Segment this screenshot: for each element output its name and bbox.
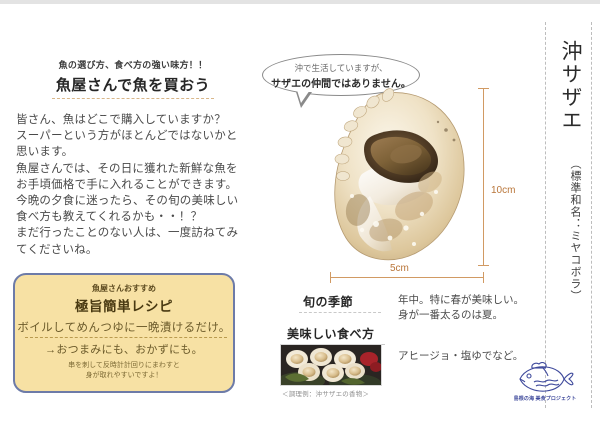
season-label-rule (299, 312, 381, 313)
species-scientific-note-vertical: （標準和名：ミヤコボラ） (553, 158, 583, 302)
logo-caption: 島根の海 美食プロジェクト (508, 395, 582, 402)
recipe-dashed-rule (25, 337, 227, 338)
width-measure-label: 5cm (390, 263, 409, 274)
season-description: 年中。特に春が美味しい。 身が一番太るのは夏。 (398, 293, 548, 323)
top-divider (0, 0, 600, 4)
left-body-copy: 皆さん、魚はどこで購入していますか？ スーパーという方がほとんどではないかと 思… (16, 112, 266, 258)
headline-dashed-rule (52, 98, 214, 99)
oki-sazae-dish-photo (280, 344, 382, 386)
vertical-title-rule-right (591, 22, 592, 408)
speech-bubble-tail-fill (297, 90, 310, 103)
width-guide-cap-right (483, 272, 484, 283)
height-measure-label: 10cm (491, 185, 515, 196)
recipe-tip-text: 串を刺して反時計計回りにまわすと 身が取れやすいですよ！ (15, 361, 233, 381)
recipe-step-text: ボイルしてめんつゆに一晩漬けるだけ。 (15, 319, 233, 335)
recipe-title: 極旨簡単レシピ (15, 295, 233, 315)
width-guide-line (330, 277, 484, 278)
season-label: 旬の季節 (303, 293, 353, 310)
left-headline: 魚屋さんで魚を買おう (18, 74, 248, 95)
recipe-card: 魚屋さんおすすめ 極旨簡単レシピ ボイルしてめんつゆに一晩漬けるだけ。 →おつま… (13, 273, 235, 393)
width-guide-cap-left (330, 272, 331, 283)
dish-photo-caption: ＜調理例：沖サザエの香物＞ (282, 388, 402, 398)
species-name-vertical: 沖サザエ (551, 40, 585, 132)
howto-label: 美味しい食べ方 (287, 325, 375, 342)
recipe-eyebrow: 魚屋さんおすすめ (15, 283, 233, 294)
height-guide-line (483, 88, 484, 266)
recipe-use-text: →おつまみにも、おかずにも。 (15, 341, 233, 357)
speech-bubble-line-1: 沖で生活していますが、 (262, 62, 420, 74)
fish-logo-icon (512, 362, 574, 396)
oki-sazae-shell-photo (318, 78, 478, 268)
left-eyebrow-text: 魚の選び方、食べ方の強い味方！！ (18, 58, 248, 71)
height-guide-cap-top (478, 88, 489, 89)
height-guide-cap-bottom (478, 265, 489, 266)
document-page: 魚の選び方、食べ方の強い味方！！ 魚屋さんで魚を買おう 皆さん、魚はどこで購入し… (0, 0, 600, 429)
